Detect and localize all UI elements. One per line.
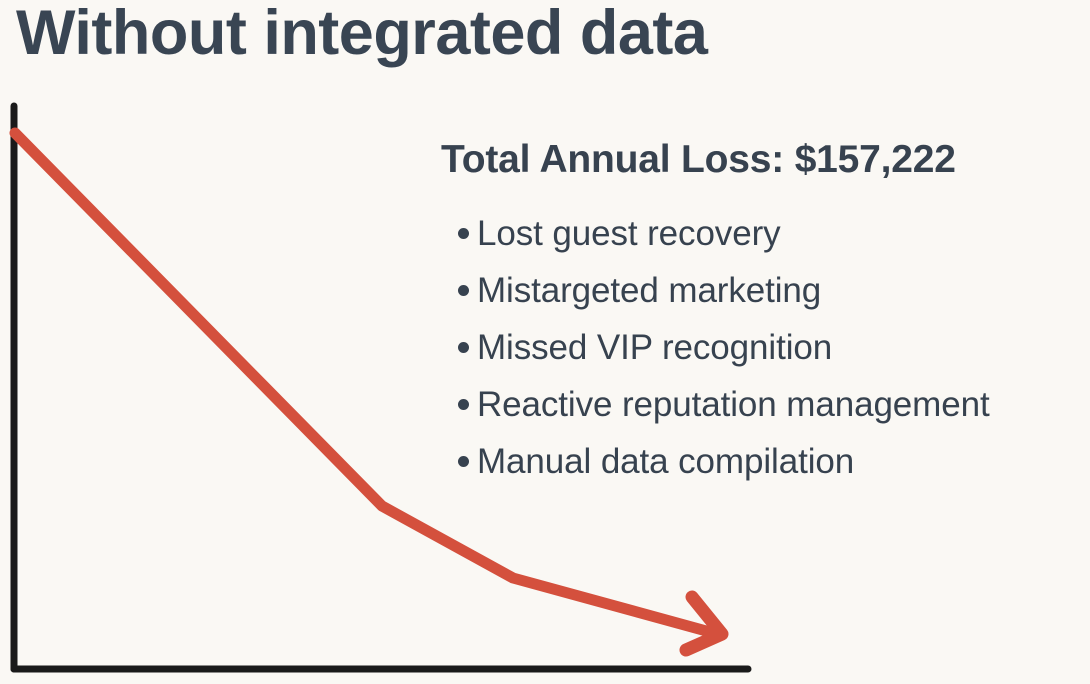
loss-reasons-list: Lost guest recovery Mistargeted marketin…: [441, 205, 1081, 490]
bullet-dot-icon: [458, 399, 469, 410]
list-item-label: Mistargeted marketing: [477, 271, 821, 310]
slide-canvas: Without integrated data Total Annual Los…: [0, 0, 1090, 684]
list-item: Lost guest recovery: [441, 205, 1081, 262]
list-item-label: Manual data compilation: [477, 442, 854, 481]
bullet-dot-icon: [458, 285, 469, 296]
list-item-label: Missed VIP recognition: [477, 328, 832, 367]
list-item: Mistargeted marketing: [441, 262, 1081, 319]
bullet-dot-icon: [458, 228, 469, 239]
list-item: Manual data compilation: [441, 433, 1081, 490]
arrow-head-icon: [686, 597, 722, 650]
bullet-dot-icon: [458, 456, 469, 467]
list-item: Reactive reputation management: [441, 376, 1081, 433]
loss-info-panel: Total Annual Loss: $157,222 Lost guest r…: [441, 138, 1081, 490]
list-item-label: Lost guest recovery: [477, 214, 781, 253]
page-title: Without integrated data: [16, 2, 707, 65]
list-item-label: Reactive reputation management: [477, 385, 990, 424]
total-annual-loss-heading: Total Annual Loss: $157,222: [441, 138, 1081, 183]
list-item: Missed VIP recognition: [441, 319, 1081, 376]
bullet-dot-icon: [458, 342, 469, 353]
